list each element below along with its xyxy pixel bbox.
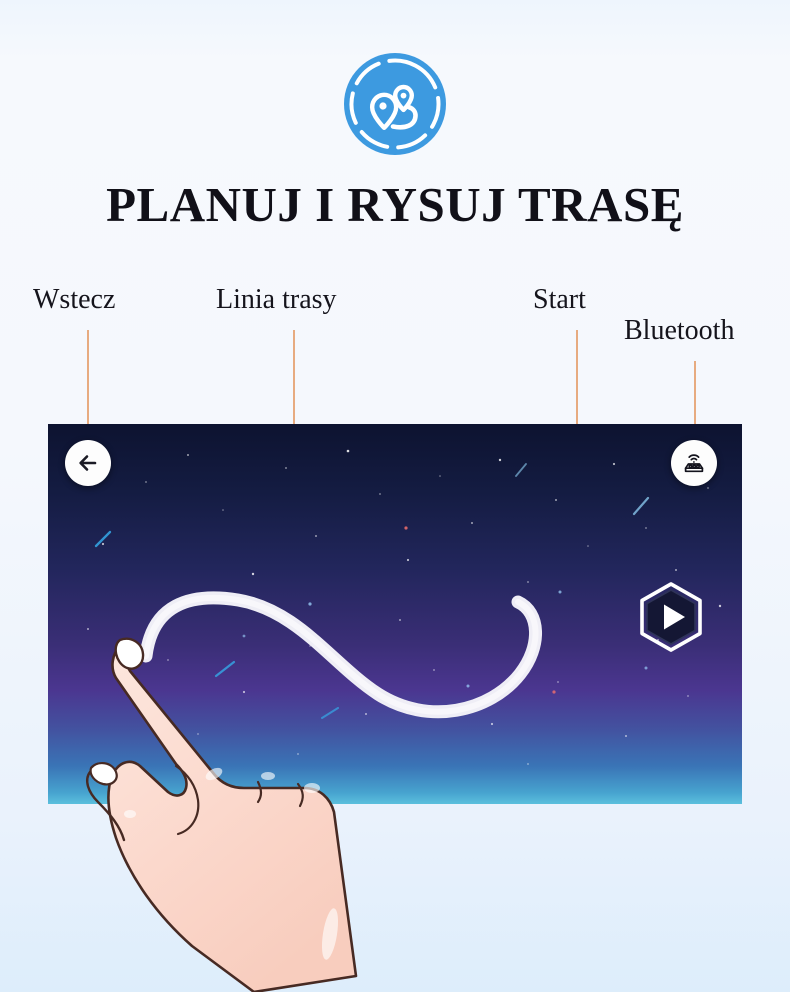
start-button[interactable] xyxy=(635,581,707,653)
logo-container xyxy=(0,50,790,158)
page-title: PLANUJ I RYSUJ TRASĘ xyxy=(0,176,790,233)
callout-label-start: Start xyxy=(533,284,586,316)
back-button[interactable] xyxy=(65,440,111,486)
bluetooth-device-icon xyxy=(680,449,708,477)
route-pins-circle-logo xyxy=(341,50,449,158)
arrow-left-icon xyxy=(76,451,100,475)
device-screen xyxy=(48,424,742,804)
callout-label-back: Wstecz xyxy=(33,284,115,316)
bluetooth-button[interactable] xyxy=(671,440,717,486)
callout-label-route: Linia trasy xyxy=(216,284,337,316)
callout-label-bluetooth: Bluetooth xyxy=(624,315,734,347)
play-icon xyxy=(635,581,707,653)
